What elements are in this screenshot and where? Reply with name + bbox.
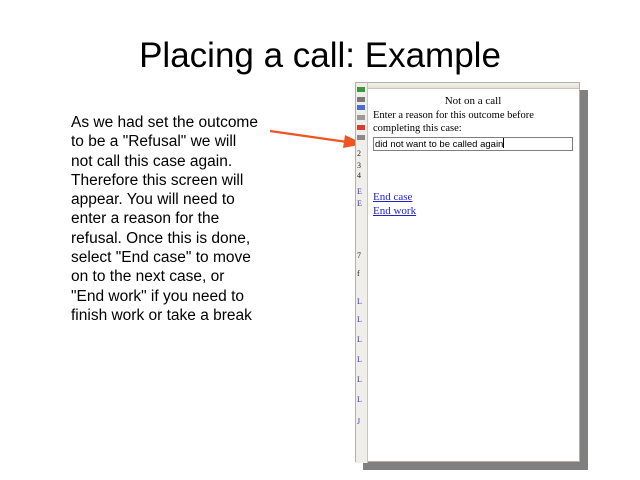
- sidebar-color-fragment-0: [357, 87, 365, 92]
- screenshot-content-area: Not on a call Enter a reason for this ou…: [369, 90, 578, 460]
- sidebar-text-fragment-0: 2: [357, 149, 366, 156]
- sidebar-color-fragment-1: [357, 97, 365, 102]
- sidebar-text-fragment-10: L: [357, 355, 366, 362]
- sidebar-text-fragment-2: 4: [357, 171, 366, 178]
- panel-heading: Not on a call: [369, 95, 577, 107]
- page-title: Placing a call: Example: [0, 36, 640, 76]
- sidebar-color-fragment-2: [357, 105, 365, 110]
- sidebar-text-fragment-7: L: [357, 297, 366, 304]
- sidebar-text-fragment-11: L: [357, 375, 366, 382]
- screenshot-window-frame: 234EE7fLLLLLLJ Not on a call Enter a rea…: [355, 82, 580, 462]
- sidebar-text-fragment-6: f: [357, 269, 366, 276]
- sidebar-text-fragment-5: 7: [357, 251, 366, 258]
- end-work-link[interactable]: End work: [373, 205, 416, 217]
- end-case-link[interactable]: End case: [373, 191, 412, 203]
- sidebar-text-fragment-8: L: [357, 315, 366, 322]
- panel-instruction-text: Enter a reason for this outcome before c…: [373, 110, 578, 135]
- sidebar-color-fragment-3: [357, 115, 365, 120]
- sidebar-text-fragment-3: E: [357, 187, 366, 194]
- sidebar-color-fragment-5: [357, 135, 365, 140]
- embedded-app-screenshot: 234EE7fLLLLLLJ Not on a call Enter a rea…: [355, 82, 580, 462]
- sidebar-text-fragment-9: L: [357, 335, 366, 342]
- slide-body-text: As we had set the outcome to be a "Refus…: [71, 113, 261, 325]
- reason-input-value: did not want to be called again: [375, 139, 503, 150]
- sidebar-text-fragment-13: J: [357, 417, 366, 424]
- reason-input-field[interactable]: did not want to be called again: [373, 137, 573, 151]
- text-cursor: [503, 138, 504, 148]
- sidebar-color-fragment-4: [357, 125, 365, 130]
- toolbar-sliver: [368, 83, 579, 89]
- sidebar-text-fragment-12: L: [357, 395, 366, 402]
- sidebar-text-fragment-1: 3: [357, 161, 366, 168]
- cropped-sidebar-strip: 234EE7fLLLLLLJ: [356, 83, 368, 463]
- sidebar-text-fragment-4: E: [357, 199, 366, 206]
- arrow-shaft: [270, 131, 347, 142]
